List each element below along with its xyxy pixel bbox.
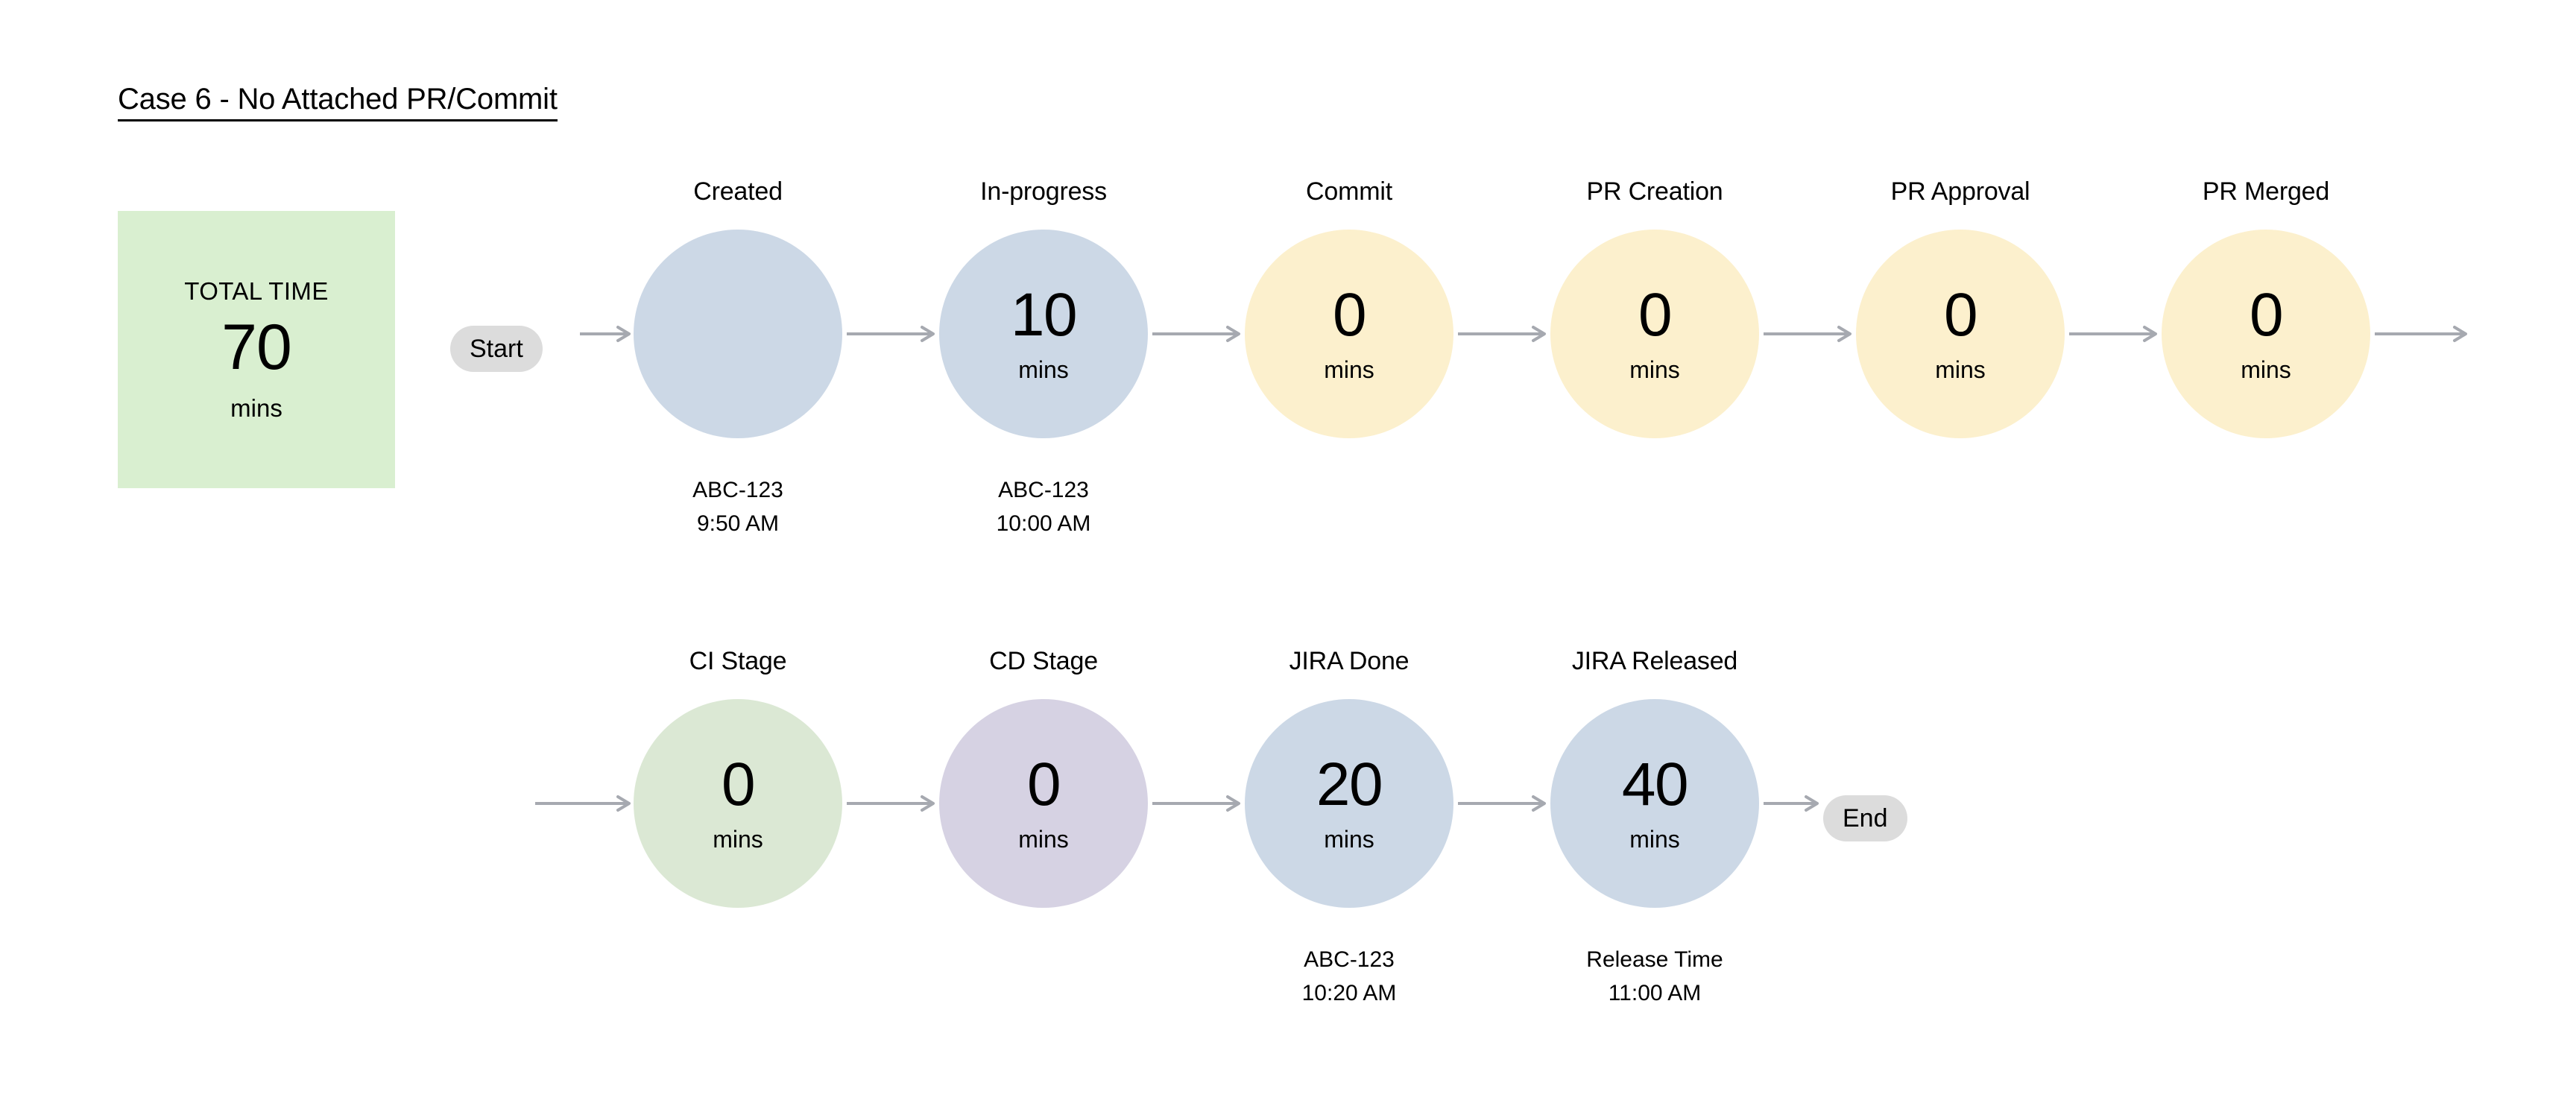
total-time-card: TOTAL TIME 70 mins (118, 211, 395, 488)
connector-row2-2 (1458, 793, 1546, 814)
connector-row1-wrap-out (2375, 323, 2467, 344)
start-node[interactable]: Start (450, 326, 543, 372)
stage-value: 0 (722, 756, 754, 814)
stage-circle[interactable]: 0mins (939, 699, 1148, 908)
stage-unit: mins (1935, 358, 1986, 382)
stage-circle[interactable]: 0mins (634, 699, 842, 908)
end-node-label: End (1843, 806, 1888, 831)
stage-footnote-line: Release Time (1586, 947, 1723, 973)
stage-footnote: Release Time11:00 AM (1586, 947, 1723, 1007)
stage-footnote-line: ABC-123 (997, 477, 1091, 503)
stage-unit: mins (1324, 358, 1374, 382)
stage-unit: mins (2241, 358, 2291, 382)
stage-footnote-line: 10:00 AM (997, 511, 1091, 537)
connector-row2-1 (1152, 793, 1240, 814)
connector-row1-4 (2069, 323, 2157, 344)
total-time-label: TOTAL TIME (184, 279, 328, 303)
stage-label: CI Stage (689, 648, 787, 674)
total-time-value: 70 (221, 315, 291, 379)
connector-row1-0 (847, 323, 935, 344)
stage-footnote: ABC-12310:00 AM (997, 477, 1091, 537)
stage-unit: mins (1018, 358, 1069, 382)
start-node-label: Start (470, 336, 523, 361)
connector-row1-1 (1152, 323, 1240, 344)
stage-value: 0 (1944, 286, 1977, 344)
stage-footnote-line: ABC-123 (1302, 947, 1397, 973)
stage-circle[interactable]: 0mins (1856, 230, 2065, 438)
stage-label: In-progress (980, 179, 1107, 204)
stage-label: Commit (1306, 179, 1392, 204)
connector-row2-0 (847, 793, 935, 814)
stage-value: 40 (1622, 756, 1688, 814)
stage-label: JIRA Done (1289, 648, 1409, 674)
stage-footnote-line: 10:20 AM (1302, 980, 1397, 1006)
stage-unit: mins (1324, 827, 1374, 851)
stage-value: 10 (1011, 286, 1076, 344)
total-time-unit: mins (230, 396, 282, 420)
stage-circle[interactable]: 20mins (1245, 699, 1453, 908)
stage-footnote: ABC-1239:50 AM (692, 477, 783, 537)
stage-label: PR Creation (1587, 179, 1723, 204)
stage-label: PR Merged (2203, 179, 2329, 204)
stage-label: CD Stage (989, 648, 1098, 674)
stage-value: 20 (1316, 756, 1382, 814)
stage-footnote-line: 11:00 AM (1586, 980, 1723, 1006)
stage-label: Created (693, 179, 783, 204)
stage-circle[interactable]: 10mins (939, 230, 1148, 438)
stage-label: JIRA Released (1572, 648, 1737, 674)
connector-start-to-created (580, 323, 631, 344)
page-title: Case 6 - No Attached PR/Commit (118, 83, 558, 121)
connector-jira-released-to-end (1764, 793, 1819, 814)
stage-circle[interactable]: 40mins (1550, 699, 1759, 908)
stage-footnote-line: 9:50 AM (692, 511, 783, 537)
stage-unit: mins (1629, 827, 1680, 851)
stage-value: 0 (2250, 286, 2282, 344)
stage-circle[interactable] (634, 230, 842, 438)
stage-value: 0 (1333, 286, 1366, 344)
stage-value: 0 (1638, 286, 1671, 344)
stage-circle[interactable]: 0mins (2162, 230, 2370, 438)
stage-label: PR Approval (1891, 179, 2030, 204)
stage-circle[interactable]: 0mins (1245, 230, 1453, 438)
stage-unit: mins (713, 827, 763, 851)
stage-footnote-line: ABC-123 (692, 477, 783, 503)
stage-value: 0 (1027, 756, 1060, 814)
stage-circle[interactable]: 0mins (1550, 230, 1759, 438)
connector-row1-3 (1764, 323, 1851, 344)
end-node[interactable]: End (1823, 795, 1907, 841)
stage-footnote: ABC-12310:20 AM (1302, 947, 1397, 1007)
connector-row1-2 (1458, 323, 1546, 344)
stage-unit: mins (1629, 358, 1680, 382)
connector-row2-wrap-in (535, 793, 631, 814)
stage-unit: mins (1018, 827, 1069, 851)
